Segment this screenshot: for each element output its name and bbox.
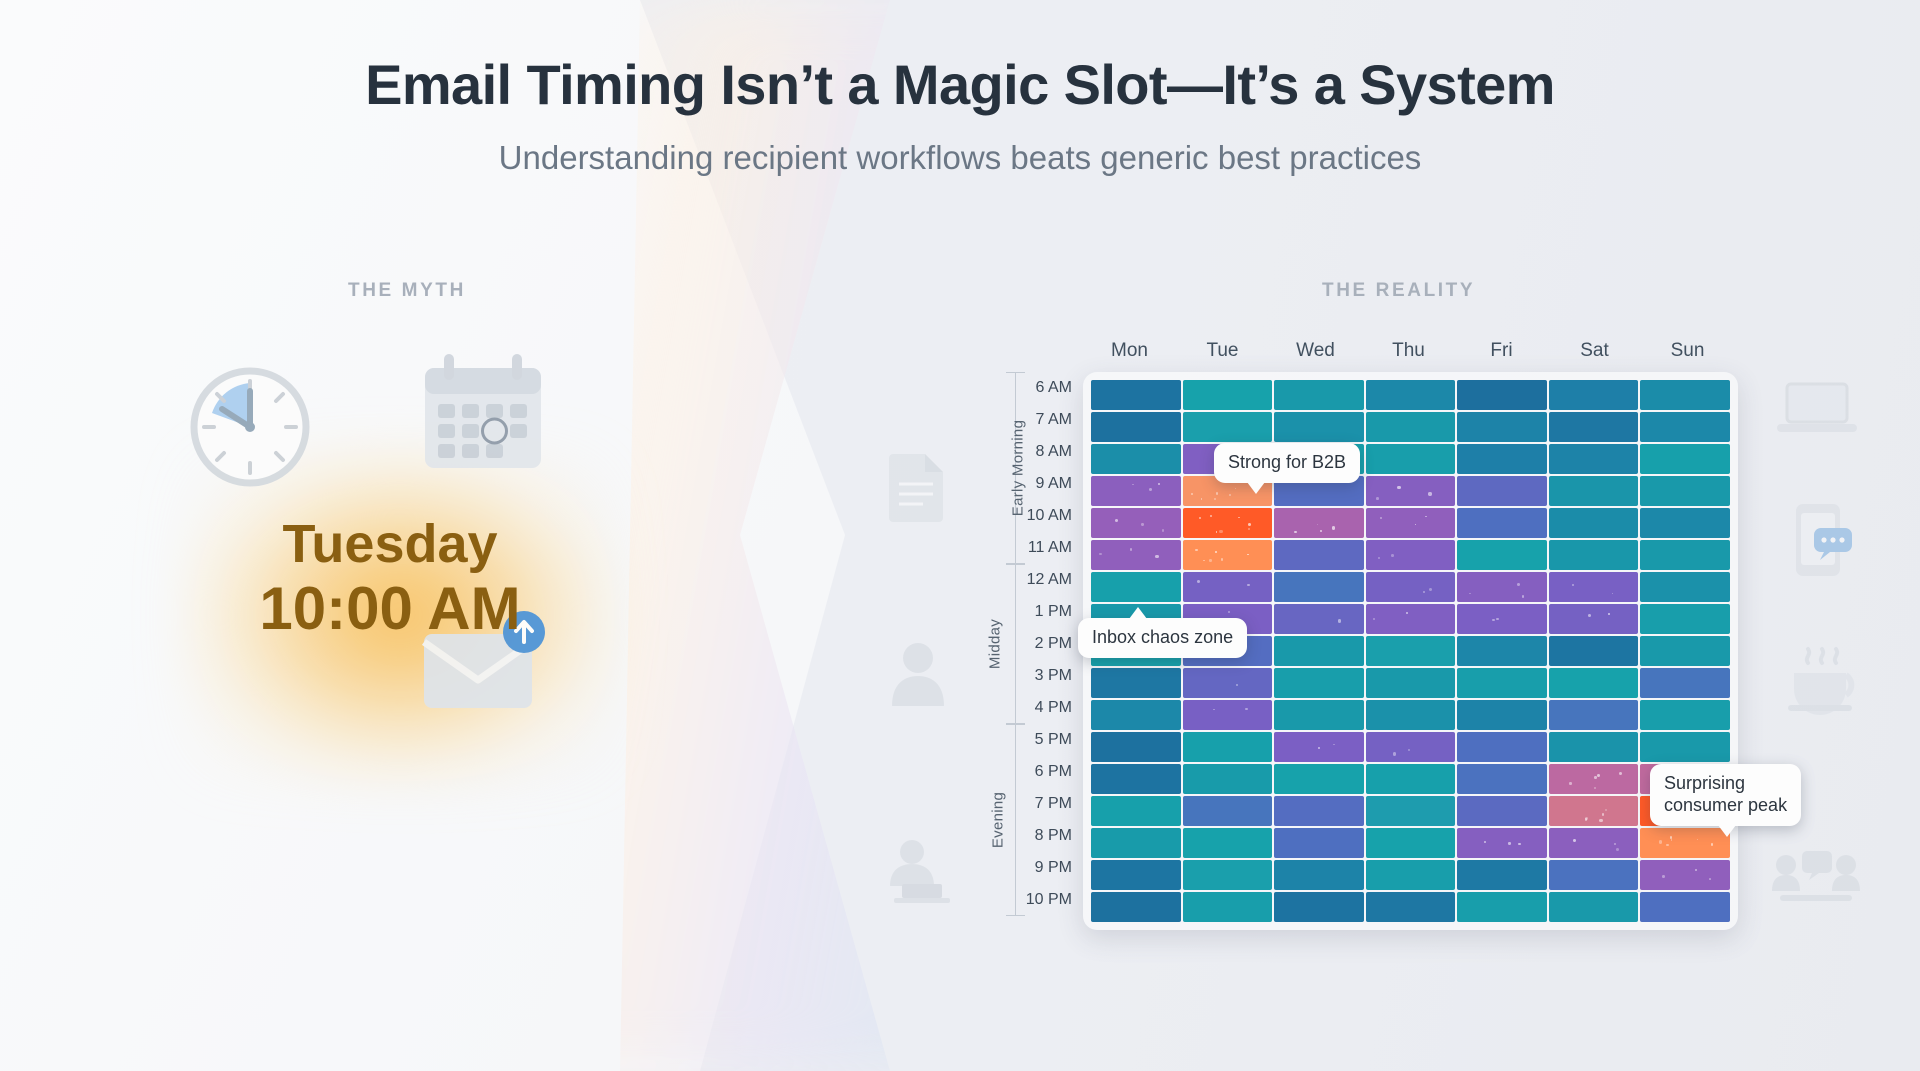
heatmap-cell[interactable]: [1091, 796, 1181, 826]
cell-speckle: [1508, 842, 1510, 844]
cell-speckle: [1238, 517, 1240, 519]
heatmap-cell[interactable]: [1366, 508, 1456, 538]
cell-speckle: [1573, 839, 1576, 842]
day-label-thu: Thu: [1362, 340, 1455, 362]
heatmap-cell[interactable]: [1457, 636, 1547, 666]
cell-speckle: [1216, 531, 1218, 533]
heatmap-cell[interactable]: [1366, 764, 1456, 794]
heatmap-cell[interactable]: [1457, 700, 1547, 730]
cell-speckle: [1585, 817, 1588, 820]
heatmap-cell[interactable]: [1640, 668, 1730, 698]
heatmap-cell[interactable]: [1183, 828, 1273, 858]
heatmap-cell[interactable]: [1366, 604, 1456, 634]
cell-speckle: [1155, 555, 1158, 558]
heatmap-cell[interactable]: [1183, 892, 1273, 922]
heatmap-cell[interactable]: [1366, 636, 1456, 666]
heatmap-cell[interactable]: [1640, 508, 1730, 538]
heatmap-cell[interactable]: [1549, 572, 1639, 602]
cell-speckle: [1469, 593, 1471, 595]
heatmap-cell[interactable]: [1183, 572, 1273, 602]
heatmap-cell[interactable]: [1274, 604, 1364, 634]
heatmap-cell[interactable]: [1366, 860, 1456, 890]
heatmap-cell[interactable]: [1549, 476, 1639, 506]
cell-speckle: [1197, 580, 1200, 583]
day-label-mon: Mon: [1083, 340, 1176, 362]
heatmap-cell[interactable]: [1274, 700, 1364, 730]
heatmap-cell[interactable]: [1183, 732, 1273, 762]
cell-speckle: [1210, 515, 1212, 517]
heatmap-cell[interactable]: [1274, 796, 1364, 826]
time-group-label: Midday: [987, 619, 1004, 669]
heatmap-cell[interactable]: [1640, 540, 1730, 570]
heatmap-cell[interactable]: [1274, 828, 1364, 858]
heatmap-cell[interactable]: [1183, 700, 1273, 730]
heatmap-cell[interactable]: [1274, 732, 1364, 762]
heatmap-cell[interactable]: [1640, 412, 1730, 442]
cell-speckle: [1697, 839, 1699, 841]
day-label-sat: Sat: [1548, 340, 1641, 362]
cell-speckle: [1597, 774, 1600, 777]
heatmap-cell[interactable]: [1183, 540, 1273, 570]
heatmap-cell[interactable]: [1091, 700, 1181, 730]
cell-speckle: [1671, 839, 1673, 841]
person-icon: [888, 640, 948, 711]
cell-speckle: [1203, 560, 1205, 562]
cell-speckle: [1141, 523, 1143, 525]
heatmap-cell[interactable]: [1549, 540, 1639, 570]
cell-speckle: [1195, 549, 1198, 552]
cell-speckle: [1317, 524, 1319, 526]
cell-speckle: [1333, 744, 1335, 746]
heatmap-cell[interactable]: [1274, 668, 1364, 698]
heatmap-cell[interactable]: [1091, 380, 1181, 410]
cell-speckle: [1149, 488, 1152, 491]
callout-inbox-chaos-zone: Inbox chaos zone: [1078, 618, 1247, 658]
heatmap-cell[interactable]: [1457, 860, 1547, 890]
day-label-fri: Fri: [1455, 340, 1548, 362]
heatmap-cell[interactable]: [1457, 764, 1547, 794]
cell-speckle: [1415, 524, 1417, 526]
heatmap-cell[interactable]: [1549, 444, 1639, 474]
cell-speckle: [1201, 498, 1203, 500]
time-group-label: Evening: [990, 792, 1007, 848]
cell-speckle: [1393, 752, 1396, 755]
heatmap-cell[interactable]: [1457, 604, 1547, 634]
cell-speckle: [1247, 554, 1249, 556]
heatmap-cell[interactable]: [1640, 444, 1730, 474]
heatmap-cell[interactable]: [1549, 668, 1639, 698]
cell-speckle: [1380, 517, 1382, 519]
heatmap-cell[interactable]: [1549, 732, 1639, 762]
cell-speckle: [1294, 531, 1297, 534]
cell-speckle: [1209, 559, 1211, 561]
heatmap-cell[interactable]: [1640, 860, 1730, 890]
calendar-icon: [418, 352, 548, 483]
heatmap-cell[interactable]: [1549, 508, 1639, 538]
heatmap-cell[interactable]: [1640, 732, 1730, 762]
cell-speckle: [1406, 612, 1408, 614]
heatmap-cell[interactable]: [1366, 476, 1456, 506]
heatmap-cell[interactable]: [1366, 892, 1456, 922]
cell-speckle: [1594, 776, 1596, 778]
cell-speckle: [1373, 618, 1375, 620]
heatmap-cell[interactable]: [1274, 636, 1364, 666]
myth-day-value: Tuesday: [80, 515, 700, 573]
heatmap-cell[interactable]: [1457, 540, 1547, 570]
time-group-bracket: Evening: [1004, 724, 1028, 916]
section-label-myth: THE MYTH: [348, 280, 466, 302]
heatmap-cell[interactable]: [1366, 828, 1456, 858]
cell-speckle: [1235, 488, 1237, 490]
heatmap-cell[interactable]: [1366, 572, 1456, 602]
heatmap-cell[interactable]: [1366, 540, 1456, 570]
cell-speckle: [1221, 558, 1224, 561]
heatmap-cell[interactable]: [1274, 572, 1364, 602]
cell-speckle: [1162, 529, 1164, 531]
section-label-reality: THE REALITY: [1322, 280, 1475, 302]
cell-speckle: [1236, 684, 1238, 686]
cell-speckle: [1659, 840, 1662, 843]
cell-speckle: [1115, 519, 1118, 522]
heatmap-cell[interactable]: [1366, 796, 1456, 826]
heatmap-cell[interactable]: [1183, 380, 1273, 410]
heatmap-cell[interactable]: [1549, 604, 1639, 634]
cell-speckle: [1376, 497, 1379, 500]
heatmap-cell[interactable]: [1274, 540, 1364, 570]
laptop-icon: [1775, 380, 1859, 443]
cell-speckle: [1216, 492, 1219, 495]
cell-speckle: [1614, 843, 1616, 845]
heatmap-day-header: MonTueWedThuFriSatSun: [1083, 340, 1734, 362]
cell-speckle: [1588, 614, 1591, 617]
heatmap-cell[interactable]: [1457, 668, 1547, 698]
cell-speckle: [1594, 787, 1596, 789]
heatmap-cell[interactable]: [1183, 668, 1273, 698]
heatmap-cell[interactable]: [1549, 636, 1639, 666]
heatmap-cell[interactable]: [1457, 732, 1547, 762]
cell-speckle: [1215, 551, 1217, 553]
cell-speckle: [1338, 619, 1341, 622]
heatmap-cell[interactable]: [1183, 508, 1273, 538]
coffee-cup-icon: [1782, 645, 1864, 720]
heatmap-cell[interactable]: [1091, 732, 1181, 762]
heatmap-cell[interactable]: [1457, 412, 1547, 442]
day-label-wed: Wed: [1269, 340, 1362, 362]
meeting-icon: [1768, 845, 1864, 916]
heatmap-cell[interactable]: [1366, 380, 1456, 410]
time-group-label: Early Morning: [1010, 420, 1027, 516]
cell-speckle: [1219, 530, 1222, 533]
cell-speckle: [1492, 619, 1495, 622]
myth-time-value: 10:00 AM: [80, 577, 700, 642]
heatmap-cell[interactable]: [1640, 572, 1730, 602]
cell-speckle: [1228, 611, 1230, 613]
heatmap-cell[interactable]: [1457, 892, 1547, 922]
cell-speckle: [1602, 813, 1604, 815]
heatmap-cell[interactable]: [1274, 892, 1364, 922]
cell-speckle: [1408, 749, 1410, 751]
heatmap-cell[interactable]: [1549, 828, 1639, 858]
cell-speckle: [1247, 584, 1250, 587]
cell-speckle: [1619, 772, 1622, 775]
heatmap-cell[interactable]: [1183, 796, 1273, 826]
heatmap-cell[interactable]: [1091, 412, 1181, 442]
header: Email Timing Isn’t a Magic Slot—It’s a S…: [0, 0, 1920, 177]
heatmap-cell[interactable]: [1640, 476, 1730, 506]
cell-speckle: [1191, 493, 1193, 495]
heatmap-cell[interactable]: [1091, 860, 1181, 890]
cell-speckle: [1318, 747, 1320, 749]
heatmap-cell[interactable]: [1549, 380, 1639, 410]
heatmap-cell[interactable]: [1640, 700, 1730, 730]
cell-speckle: [1518, 843, 1520, 845]
heatmap-cell[interactable]: [1366, 668, 1456, 698]
cell-speckle: [1213, 709, 1215, 711]
heatmap-cell[interactable]: [1183, 412, 1273, 442]
heatmap-cell[interactable]: [1366, 700, 1456, 730]
heatmap-cell[interactable]: [1183, 860, 1273, 890]
cell-speckle: [1428, 492, 1431, 495]
cell-speckle: [1391, 554, 1394, 557]
heatmap-cell[interactable]: [1366, 444, 1456, 474]
cell-speckle: [1214, 498, 1216, 500]
heatmap-cell[interactable]: [1549, 764, 1639, 794]
heatmap-cell[interactable]: [1274, 764, 1364, 794]
heatmap-cell[interactable]: [1366, 412, 1456, 442]
cell-speckle: [1248, 523, 1251, 526]
heatmap-cell[interactable]: [1640, 828, 1730, 858]
cell-speckle: [1229, 494, 1231, 496]
heatmap-cell[interactable]: [1183, 764, 1273, 794]
page-title: Email Timing Isn’t a Magic Slot—It’s a S…: [0, 52, 1920, 117]
heatmap-cell[interactable]: [1366, 732, 1456, 762]
heatmap-cell[interactable]: [1091, 508, 1181, 538]
cell-speckle: [1612, 593, 1614, 595]
page-subtitle: Understanding recipient workflows beats …: [0, 139, 1920, 177]
heatmap-cell[interactable]: [1091, 764, 1181, 794]
heatmap-cell[interactable]: [1091, 892, 1181, 922]
cell-speckle: [1248, 528, 1250, 530]
cell-speckle: [1569, 782, 1571, 784]
myth-value: Tuesday 10:00 AM: [80, 515, 700, 642]
clock-icon: [188, 365, 312, 494]
myth-panel: Tuesday 10:00 AM: [80, 330, 700, 890]
cell-speckle: [1662, 875, 1665, 878]
cell-speckle: [1429, 588, 1432, 591]
cell-speckle: [1320, 530, 1322, 532]
cell-speckle: [1599, 819, 1602, 822]
heatmap-cell[interactable]: [1091, 828, 1181, 858]
heatmap-cell[interactable]: [1549, 892, 1639, 922]
heatmap-cell[interactable]: [1549, 412, 1639, 442]
day-label-sun: Sun: [1641, 340, 1734, 362]
heatmap-cell[interactable]: [1549, 700, 1639, 730]
heatmap-cell[interactable]: [1274, 508, 1364, 538]
heatmap-cell[interactable]: [1457, 508, 1547, 538]
heatmap-cell[interactable]: [1549, 860, 1639, 890]
cell-speckle: [1423, 591, 1425, 593]
cell-speckle: [1378, 557, 1380, 559]
document-icon: [885, 450, 949, 527]
heatmap-cell[interactable]: [1457, 572, 1547, 602]
cell-speckle: [1711, 843, 1713, 845]
cell-speckle: [1332, 526, 1335, 529]
heatmap-cell[interactable]: [1640, 380, 1730, 410]
cell-speckle: [1709, 878, 1711, 880]
heatmap-cell[interactable]: [1549, 796, 1639, 826]
time-group-bracket: Early Morning: [1004, 372, 1028, 564]
cell-speckle: [1245, 708, 1247, 710]
heatmap-cell[interactable]: [1457, 796, 1547, 826]
cell-speckle: [1158, 483, 1160, 485]
callout-surprising-consumer-peak: Surprising consumer peak: [1650, 764, 1801, 826]
time-group-bracket: Midday: [1004, 564, 1028, 724]
heatmap-cell[interactable]: [1091, 668, 1181, 698]
cell-speckle: [1484, 841, 1486, 843]
cell-speckle: [1517, 583, 1520, 586]
heatmap-cell[interactable]: [1274, 412, 1364, 442]
cell-speckle: [1522, 595, 1524, 597]
cell-speckle: [1425, 516, 1427, 518]
cell-speckle: [1099, 553, 1101, 555]
heatmap-cell[interactable]: [1091, 444, 1181, 474]
cell-speckle: [1496, 618, 1498, 620]
heatmap-cell[interactable]: [1091, 476, 1181, 506]
heatmap-cell[interactable]: [1274, 380, 1364, 410]
heatmap-cell[interactable]: [1457, 444, 1547, 474]
cell-speckle: [1572, 584, 1574, 586]
person-at-desk-icon: [880, 838, 952, 911]
callout-strong-for-b2b: Strong for B2B: [1214, 443, 1360, 483]
heatmap-cell[interactable]: [1457, 380, 1547, 410]
day-label-tue: Tue: [1176, 340, 1269, 362]
cell-speckle: [1666, 844, 1668, 846]
heatmap-cell[interactable]: [1640, 604, 1730, 634]
phone-chat-icon: [1790, 500, 1856, 585]
cell-speckle: [1616, 848, 1619, 851]
cell-speckle: [1199, 517, 1201, 519]
cell-speckle: [1132, 484, 1134, 486]
heatmap-cell[interactable]: [1457, 828, 1547, 858]
cell-speckle: [1695, 869, 1697, 871]
heatmap-cell[interactable]: [1457, 476, 1547, 506]
cell-speckle: [1605, 809, 1607, 811]
heatmap-cell[interactable]: [1091, 572, 1181, 602]
heatmap-cell[interactable]: [1640, 636, 1730, 666]
cell-speckle: [1397, 486, 1400, 489]
heatmap-cell[interactable]: [1091, 540, 1181, 570]
heatmap-cell[interactable]: [1640, 892, 1730, 922]
cell-speckle: [1608, 613, 1610, 615]
cell-speckle: [1130, 548, 1133, 551]
heatmap-time-axis: 6 AM7 AM8 AM9 AM10 AM11 AM12 AM1 PM2 PM3…: [1000, 372, 1080, 916]
heatmap-cell[interactable]: [1274, 860, 1364, 890]
